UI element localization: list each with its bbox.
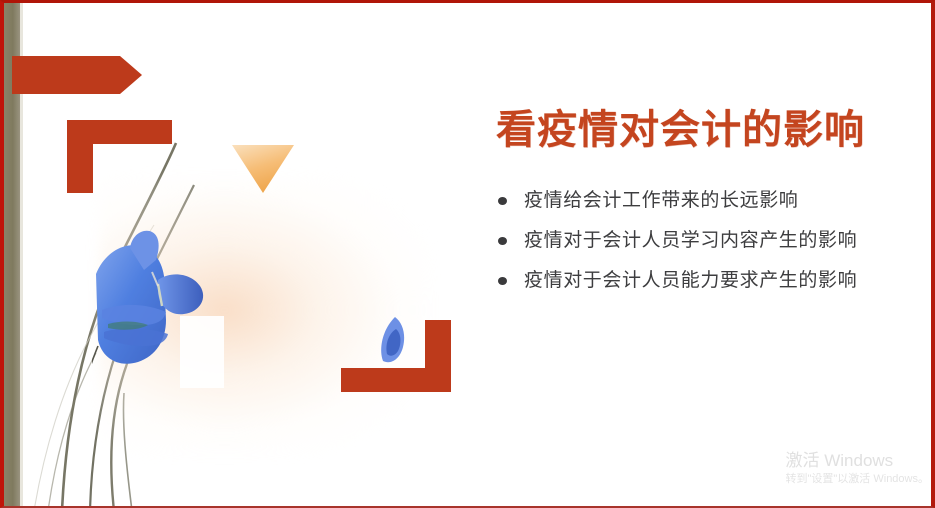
bullet-item: 疫情给会计工作带来的长远影响 [496, 188, 916, 215]
corner-bracket-top-left [67, 120, 172, 193]
bullet-item: 疫情对于会计人员能力要求产生的影响 [496, 268, 916, 295]
bullet-list: 疫情给会计工作带来的长远影响 疫情对于会计人员学习内容产生的影响 疫情对于会计人… [496, 188, 916, 295]
gloved-hands-photo [92, 228, 224, 388]
windows-activation-watermark: 激活 Windows 转到"设置"以激活 Windows。 [786, 451, 930, 486]
watermark-title: 激活 Windows [786, 451, 930, 471]
slide-title: 看疫情对会计的影响 [496, 107, 916, 154]
presentation-slide: 看疫情对会计的影响 疫情给会计工作带来的长远影响 疫情对于会计人员学习内容产生的… [0, 0, 935, 508]
down-triangle-accent [232, 145, 294, 193]
bracket-arm-horizontal [341, 368, 451, 392]
bracket-arm-vertical [67, 120, 93, 193]
right-arrow-banner [12, 56, 142, 94]
corner-bracket-bottom-right [341, 320, 451, 392]
slide-text-content: 看疫情对会计的影响 疫情给会计工作带来的长远影响 疫情对于会计人员学习内容产生的… [496, 107, 916, 308]
bullet-item: 疫情对于会计人员学习内容产生的影响 [496, 228, 916, 255]
watermark-subtitle: 转到"设置"以激活 Windows。 [786, 472, 930, 486]
